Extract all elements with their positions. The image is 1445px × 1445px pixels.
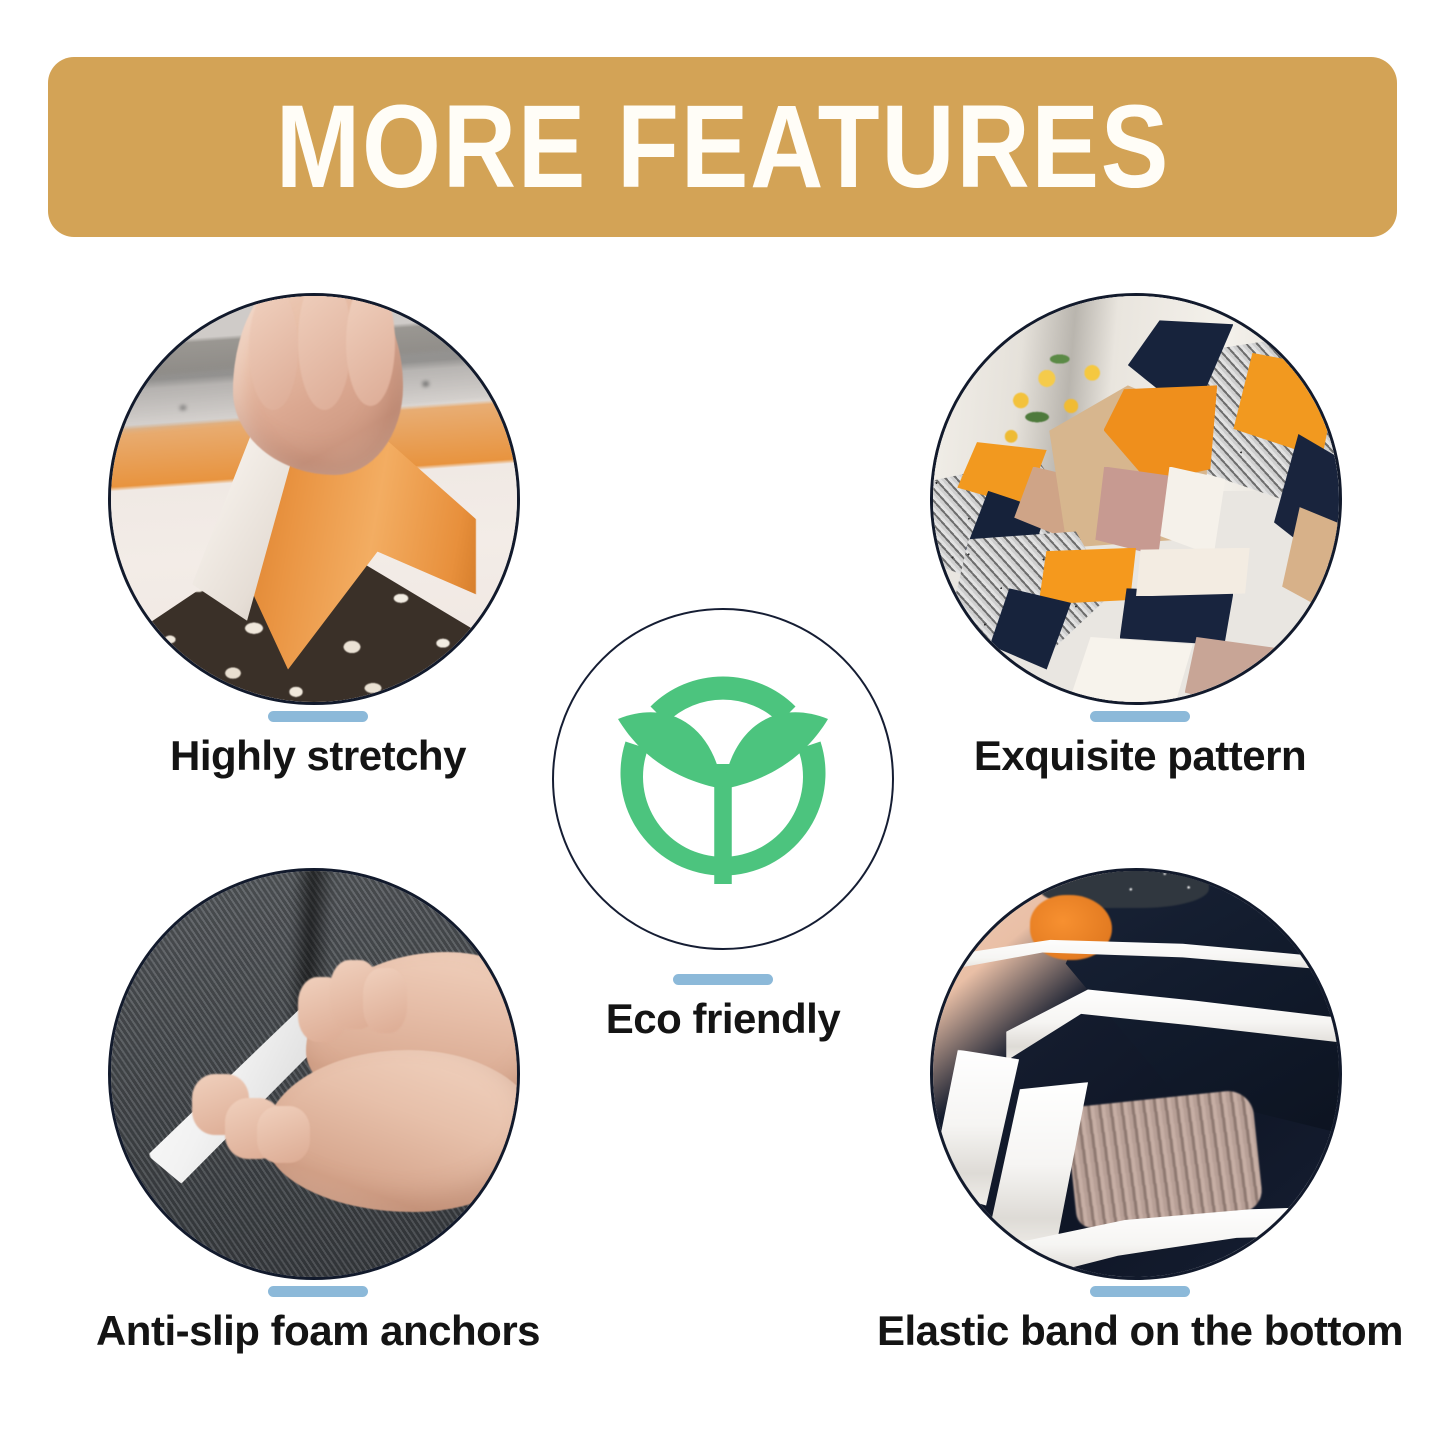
eco-label: Eco friendly [606,995,840,1042]
feature-label: Exquisite pattern [974,732,1306,779]
page-title: MORE FEATURES [275,88,1169,206]
feature-label: Anti-slip foam anchors [96,1307,540,1354]
feature-caption-elastic-band: Elastic band on the bottom [870,1286,1410,1355]
feature-photo-exquisite-pattern [930,293,1342,705]
header-banner: MORE FEATURES [48,57,1397,237]
photo-stretchy-fabric [111,296,517,702]
feature-caption-highly-stretchy: Highly stretchy [108,711,528,780]
accent-bar-icon [268,1286,368,1297]
feature-highly-stretchy[interactable]: Highly stretchy [108,293,528,705]
feature-label: Elastic band on the bottom [877,1307,1403,1354]
infographic-page: MORE FEATURES Highly stretchy [0,0,1445,1445]
eco-badge-circle [552,608,894,950]
feature-photo-anti-slip-foam-anchors [108,868,520,1280]
eco-friendly-badge[interactable]: Eco friendly [552,608,894,950]
feature-caption-anti-slip-foam-anchors: Anti-slip foam anchors [48,1286,588,1355]
feature-anti-slip-foam-anchors[interactable]: Anti-slip foam anchors [108,868,528,1280]
feature-photo-highly-stretchy [108,293,520,705]
eco-friendly-caption: Eco friendly [552,974,894,1043]
photo-patchwork-sofa [933,296,1339,702]
sprout-in-circle-icon [598,654,848,904]
feature-label: Highly stretchy [170,732,466,779]
photo-elastic-band [933,871,1339,1277]
photo-foam-anchor [111,871,517,1277]
accent-bar-icon [673,974,773,985]
accent-bar-icon [1090,1286,1190,1297]
feature-caption-exquisite-pattern: Exquisite pattern [930,711,1350,780]
accent-bar-icon [268,711,368,722]
feature-photo-elastic-band [930,868,1342,1280]
feature-elastic-band-on-the-bottom[interactable]: Elastic band on the bottom [930,868,1350,1280]
feature-exquisite-pattern[interactable]: Exquisite pattern [930,293,1350,705]
accent-bar-icon [1090,711,1190,722]
